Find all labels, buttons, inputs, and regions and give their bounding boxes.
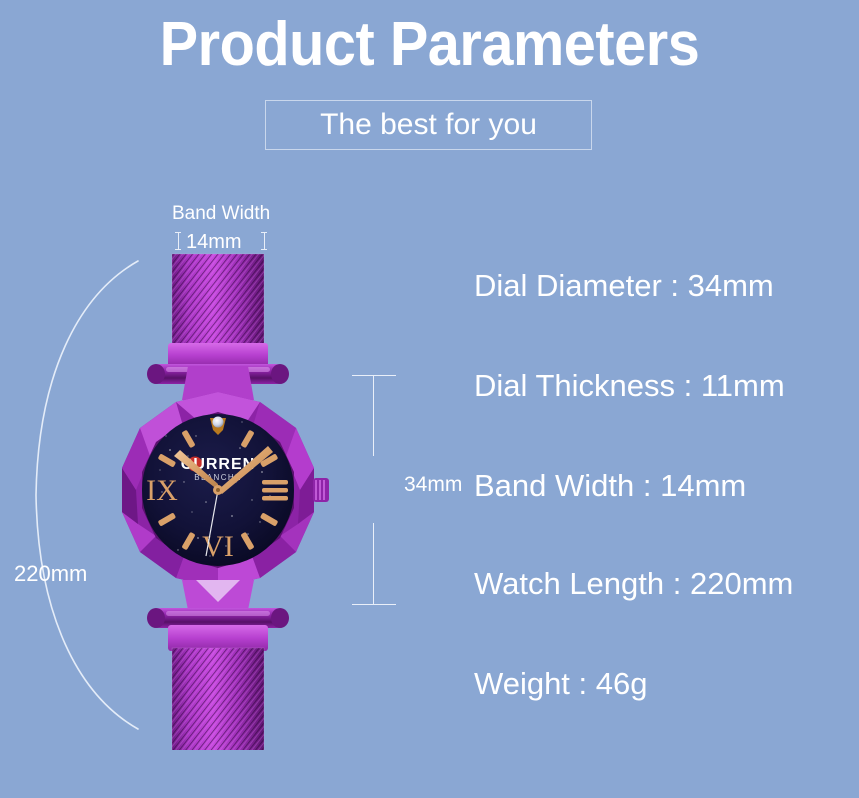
- spec-band-width: Band Width : 14mm: [474, 470, 746, 501]
- dimension-cap-top: [352, 375, 396, 376]
- numeral-six: VI: [202, 530, 234, 563]
- dimension-bar-top: [373, 376, 374, 456]
- subtitle-box: The best for you: [265, 100, 592, 150]
- subtitle-text: The best for you: [266, 101, 591, 149]
- marker-three: [262, 480, 288, 501]
- band-width-cap-right-top: [261, 232, 267, 233]
- watch-length-annotation-value: 220mm: [14, 561, 87, 587]
- band-width-annotation-label: Band Width: [172, 203, 270, 225]
- band-width-tick-left: [178, 232, 179, 250]
- watch-dial: IX VI CURREN BLANCHE: [142, 414, 294, 566]
- dial-diameter-dimension-label: 34mm: [404, 473, 462, 497]
- spec-dial-thickness: Dial Thickness : 11mm: [474, 370, 785, 401]
- lower-band-clip: [168, 625, 268, 651]
- dial-diameter-dimension: [352, 375, 402, 605]
- dimension-cap-bottom: [352, 604, 396, 605]
- watch-product-image: IX VI CURREN BLANCHE: [100, 250, 360, 750]
- upper-band: [172, 254, 264, 344]
- band-width-tick-right: [264, 232, 265, 250]
- numeral-nine: IX: [146, 474, 178, 507]
- lower-band: [172, 648, 264, 750]
- band-width-cap-left-top: [175, 232, 181, 233]
- spec-dial-diameter: Dial Diameter : 34mm: [474, 270, 774, 301]
- spec-watch-length: Watch Length : 220mm: [474, 568, 793, 599]
- watch-crown: [313, 478, 329, 502]
- watch-illustration: IX VI CURREN BLANCHE: [100, 250, 360, 750]
- dimension-bar-bottom: [373, 523, 374, 604]
- product-parameters-infographic: Product Parameters The best for you Band…: [0, 0, 859, 798]
- spec-weight: Weight : 46g: [474, 668, 647, 699]
- page-title: Product Parameters: [30, 14, 829, 76]
- upper-band-clip: [168, 343, 268, 367]
